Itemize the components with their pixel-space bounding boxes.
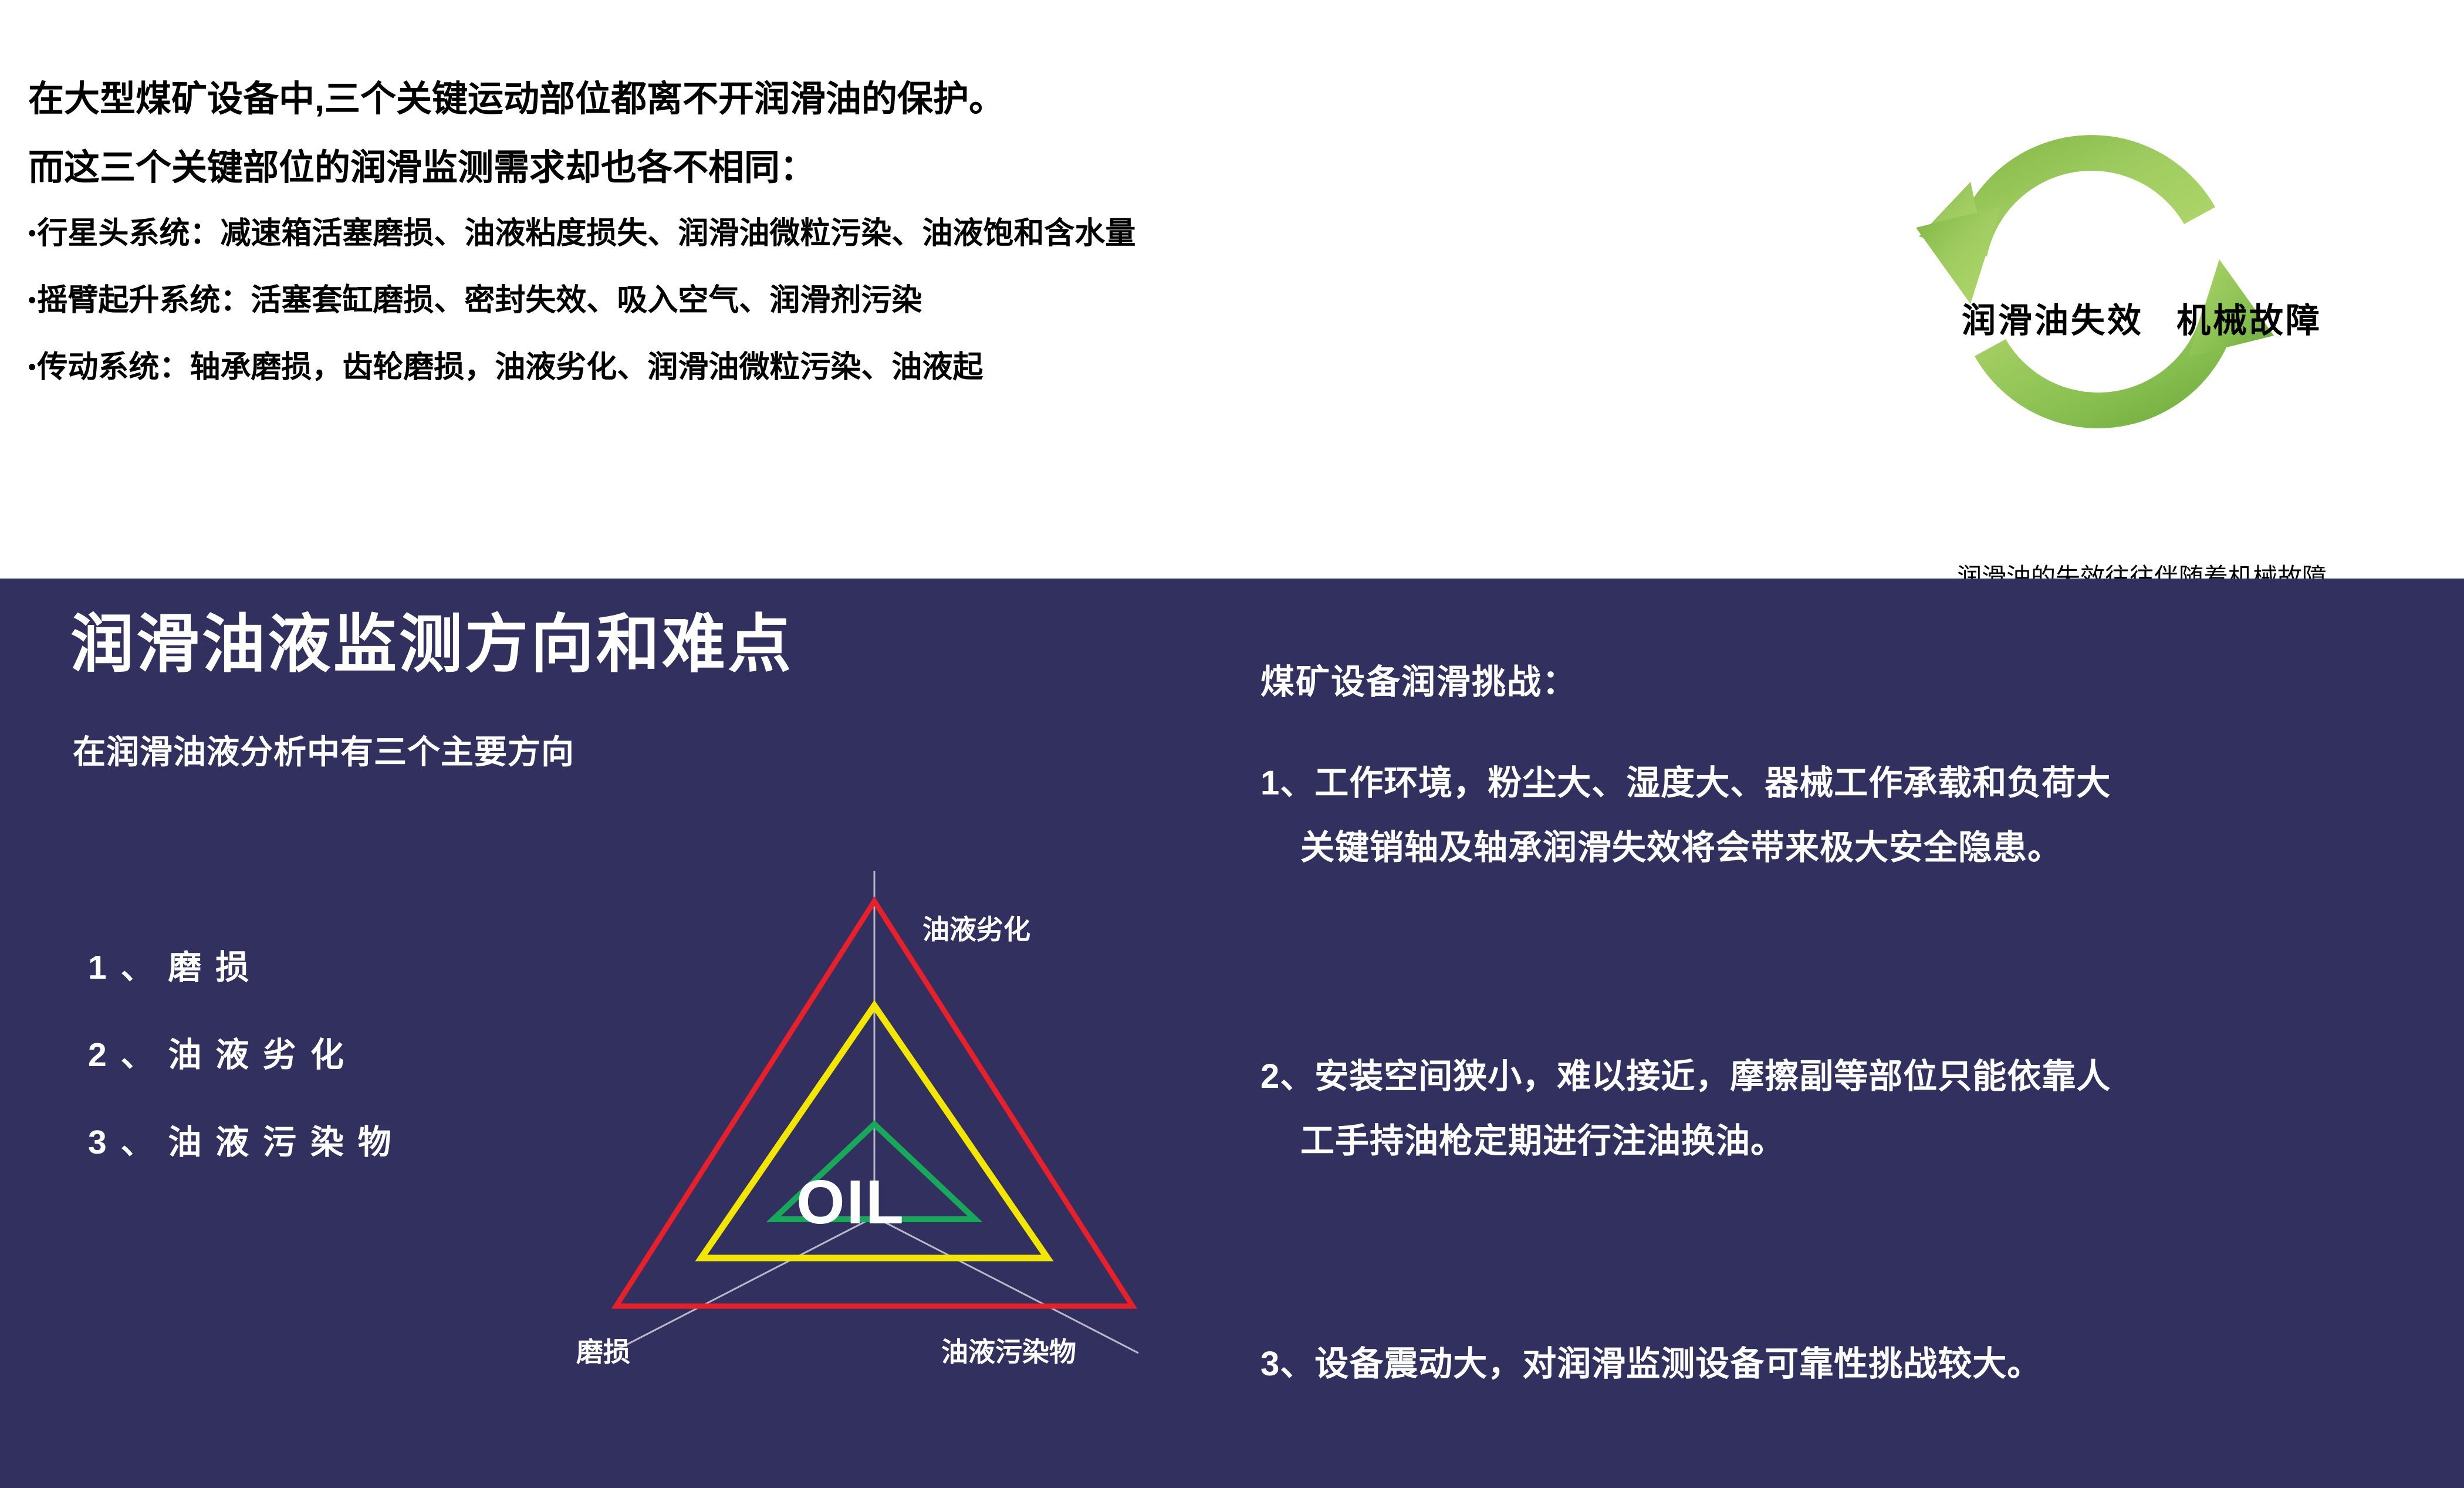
bullet-text-3: 传动系统：轴承磨损，齿轮磨损，油液劣化、润滑油微粒污染、油液起 (37, 350, 983, 384)
challenges-heading: 煤矿设备润滑挑战： (1260, 665, 1577, 699)
cycle-label-right: 机械故障 (2176, 304, 2322, 338)
intro-line-2: 而这三个关键部位的润滑监测需求却也各不相同： (28, 150, 1624, 185)
bullet-item-rocker-lift: •摇臂起升系统：活塞套缸磨损、密封失效、吸入空气、润滑剂污染 (28, 285, 1624, 316)
section-subtitle: 在润滑油液分析中有三个主要方向 (73, 736, 574, 769)
challenge-1-line-2: 关键销轴及轴承润滑失效将会带来极大安全隐患。 (1300, 831, 2387, 865)
radar-axis-label-contaminants: 油液污染物 (941, 1338, 1076, 1365)
dark-content-section: 润滑油液监测方向和难点 在润滑油液分析中有三个主要方向 1 、 磨 损 2 、 … (0, 579, 2464, 1488)
challenge-item-2: 2、安装空间狭小，难以接近，摩擦副等部位只能依靠人 工手持油枪定期进行注油换油。 (1260, 1060, 2387, 1158)
circular-arrows-icon (1884, 70, 2306, 493)
challenge-2-line-1: 2、安装空间狭小，难以接近，摩擦副等部位只能依靠人 (1260, 1057, 2111, 1095)
challenge-item-3: 3、设备震动大，对润滑监测设备可靠性挑战较大。 (1260, 1347, 2387, 1381)
radar-center-label: OIL (528, 1171, 1174, 1233)
direction-item-3: 3 、 油 液 污 染 物 (88, 1126, 534, 1159)
radar-axes (610, 871, 1138, 1353)
bullet-dot-icon: • (28, 221, 36, 246)
bullet-dot-icon: • (28, 355, 36, 380)
challenge-3-line-1: 3、设备震动大，对润滑监测设备可靠性挑战较大。 (1260, 1345, 2041, 1383)
directions-list: 1 、 磨 损 2 、 油 液 劣 化 3 、 油 液 污 染 物 (88, 951, 534, 1213)
oil-radar-chart: OIL 油液劣化 磨损 油液污染物 (528, 837, 1174, 1423)
radar-axis-label-oil-degradation: 油液劣化 (922, 916, 1030, 943)
section-title: 润滑油液监测方向和难点 (70, 613, 793, 676)
challenge-1-line-1: 1、工作环境，粉尘大、湿度大、器械工作承载和负荷大 (1260, 764, 2111, 802)
challenge-2-line-2: 工手持油枪定期进行注油换油。 (1300, 1124, 2387, 1158)
bullet-item-planetary-head: •行星头系统：减速箱活塞磨损、油液粘度损失、润滑油微粒污染、油液饱和含水量 (28, 218, 1624, 249)
direction-item-2: 2 、 油 液 劣 化 (88, 1039, 534, 1072)
challenge-item-1: 1、工作环境，粉尘大、湿度大、器械工作承载和负荷大 关键销轴及轴承润滑失效将会带… (1260, 766, 2387, 865)
radar-axis-label-wear: 磨损 (576, 1338, 630, 1365)
bullet-item-transmission: •传动系统：轴承磨损，齿轮磨损，油液劣化、润滑油微粒污染、油液起 (28, 352, 1624, 383)
intro-text-block: 在大型煤矿设备中,三个关键运动部位都离不开润滑油的保护。 而这三个关键部位的润滑… (28, 81, 1624, 419)
failure-cycle-graphic: 润滑油失效机械故障 润滑油的失效往往伴随着机械故障 (1843, 70, 2441, 540)
cycle-label-left: 润滑油失效 (1962, 304, 2144, 338)
radar-triangle-svg (528, 837, 1174, 1423)
direction-item-1: 1 、 磨 损 (88, 951, 534, 985)
slide-root: 在大型煤矿设备中,三个关键运动部位都离不开润滑油的保护。 而这三个关键部位的润滑… (0, 0, 2464, 1488)
bullet-text-2: 摇臂起升系统：活塞套缸磨损、密封失效、吸入空气、润滑剂污染 (37, 283, 922, 317)
bullet-dot-icon: • (28, 288, 36, 313)
intro-line-1: 在大型煤矿设备中,三个关键运动部位都离不开润滑油的保护。 (28, 81, 1624, 117)
bullet-text-1: 行星头系统：减速箱活塞磨损、油液粘度损失、润滑油微粒污染、油液饱和含水量 (37, 217, 1135, 251)
top-white-section: 在大型煤矿设备中,三个关键运动部位都离不开润滑油的保护。 而这三个关键部位的润滑… (0, 0, 2464, 579)
cycle-labels: 润滑油失效机械故障 (1843, 304, 2441, 338)
